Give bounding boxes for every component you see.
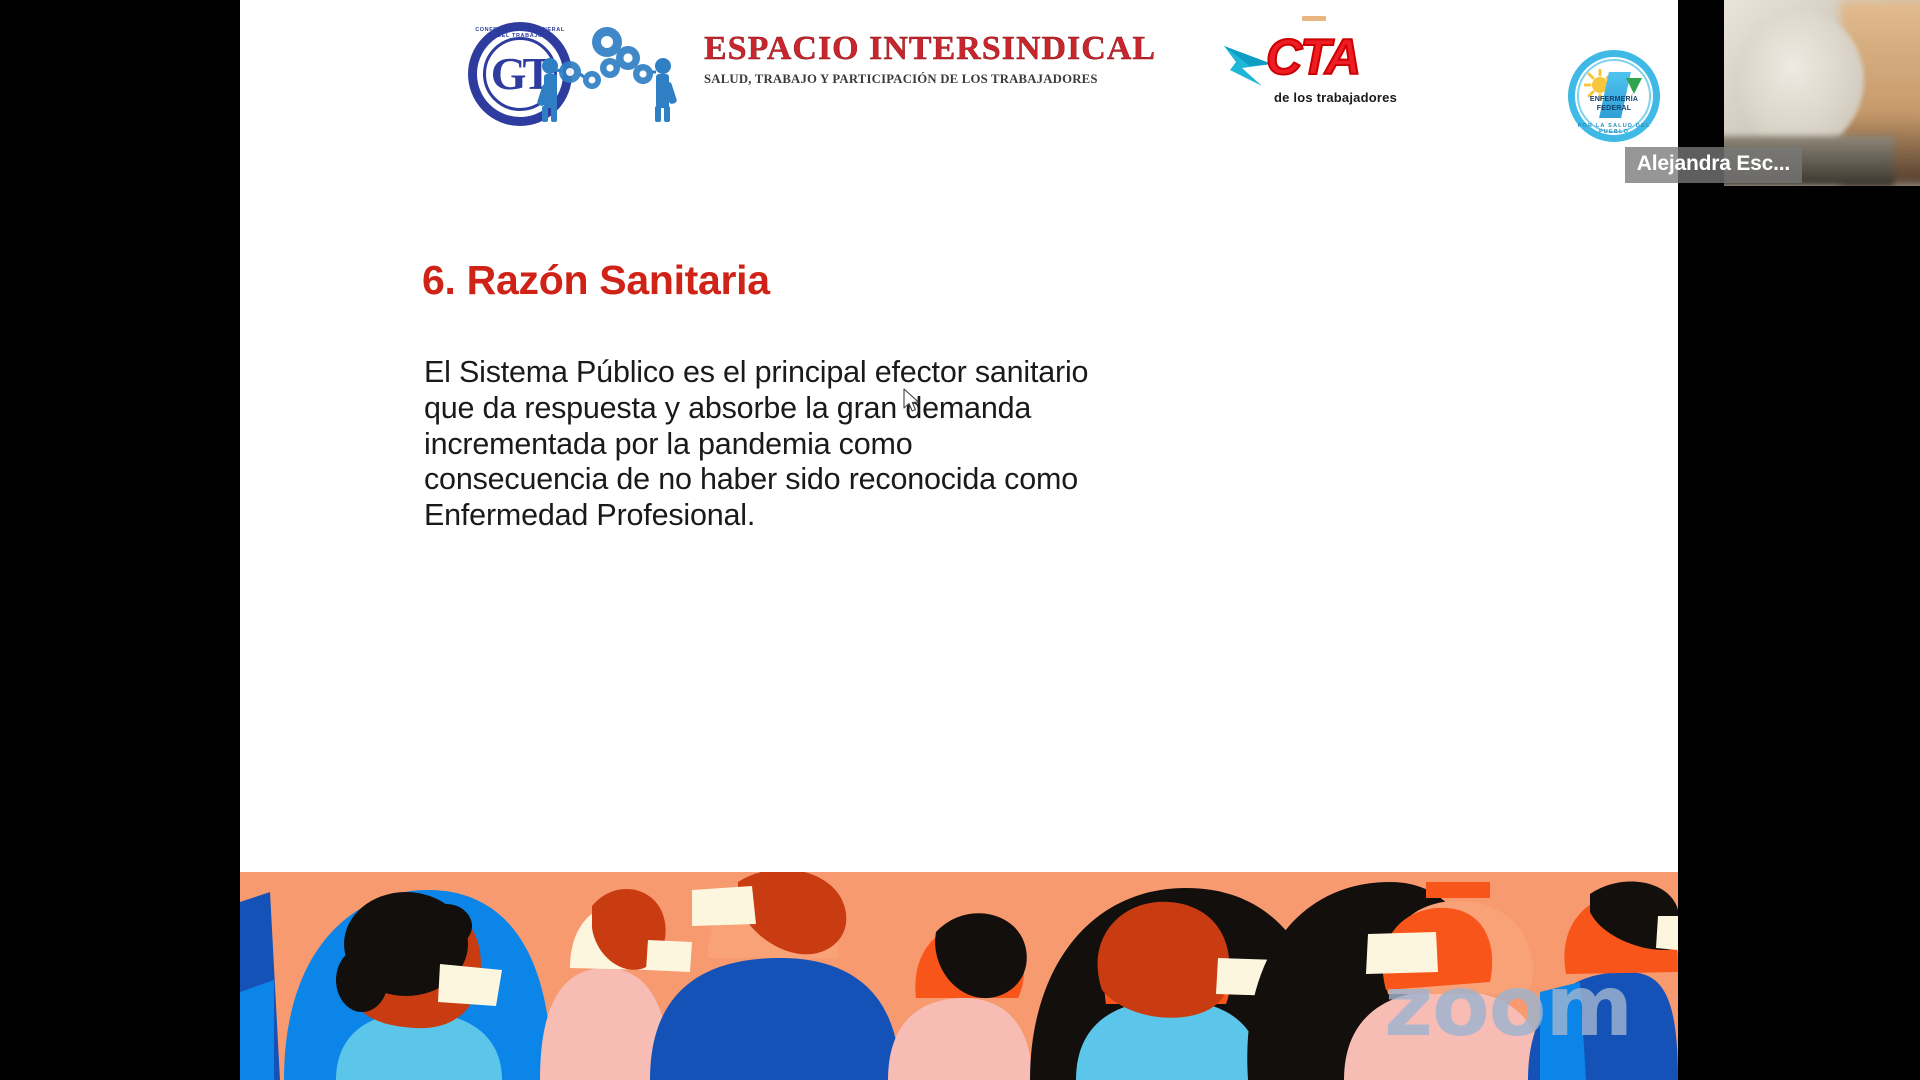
slide-body-line: Enfermedad Profesional.: [424, 498, 1104, 534]
zoom-watermark: zoom: [1384, 964, 1632, 1048]
slide-body-text: El Sistema Público es el principal efect…: [424, 355, 1104, 534]
enf-arc-text: POR LA SALUD DEL PUEBLO: [1568, 123, 1660, 135]
espacio-text-block: ESPACIO INTERSINDICAL SALUD, TRABAJO Y P…: [704, 32, 1244, 87]
shared-slide: CONFEDERACION GENERAL DEL TRABAJO GT R. …: [240, 0, 1678, 1080]
slide-body-line: que da respuesta y absorbe la gran deman…: [424, 391, 1104, 427]
gears-and-people-icon: [532, 24, 682, 122]
espacio-subtitle: SALUD, TRABAJO Y PARTICIPACIÓN DE LOS TR…: [704, 72, 1255, 87]
zoom-screen-share-view: CONFEDERACION GENERAL DEL TRABAJO GT R. …: [0, 0, 1920, 1080]
cta-logo: CTA de los trabajadores: [1222, 30, 1422, 116]
espacio-title: ESPACIO INTERSINDICAL: [704, 32, 1244, 66]
participant-name-badge: Alejandra Esc...: [1625, 147, 1802, 183]
mouse-cursor: [903, 388, 921, 414]
enf-line1: ENFERMERÍA: [1568, 96, 1660, 103]
participant-face: [1734, 10, 1864, 150]
cta-acronym: CTA: [1266, 32, 1359, 82]
slide-logo-bar: CONFEDERACION GENERAL DEL TRABAJO GT R. …: [240, 0, 1678, 160]
slide-title: 6. Razón Sanitaria: [422, 258, 1322, 303]
masked-people-illustration: zoom: [240, 872, 1678, 1080]
cta-subtitle: de los trabajadores: [1274, 90, 1397, 105]
slide-body-line: incrementada por la pandemia como: [424, 427, 1104, 463]
slide-body-line: consecuencia de no haber sido reconocida…: [424, 462, 1104, 498]
orange-dash-mark: [1302, 16, 1326, 21]
espacio-intersindical-logo: ESPACIO INTERSINDICAL SALUD, TRABAJO Y P…: [532, 18, 1232, 128]
slide-body-line: El Sistema Público es el principal efect…: [424, 355, 1104, 391]
enfermeria-federal-logo: ENFERMERÍA FEDERAL POR LA SALUD DEL PUEB…: [1568, 50, 1660, 142]
enf-line2: FEDERAL: [1568, 105, 1660, 112]
